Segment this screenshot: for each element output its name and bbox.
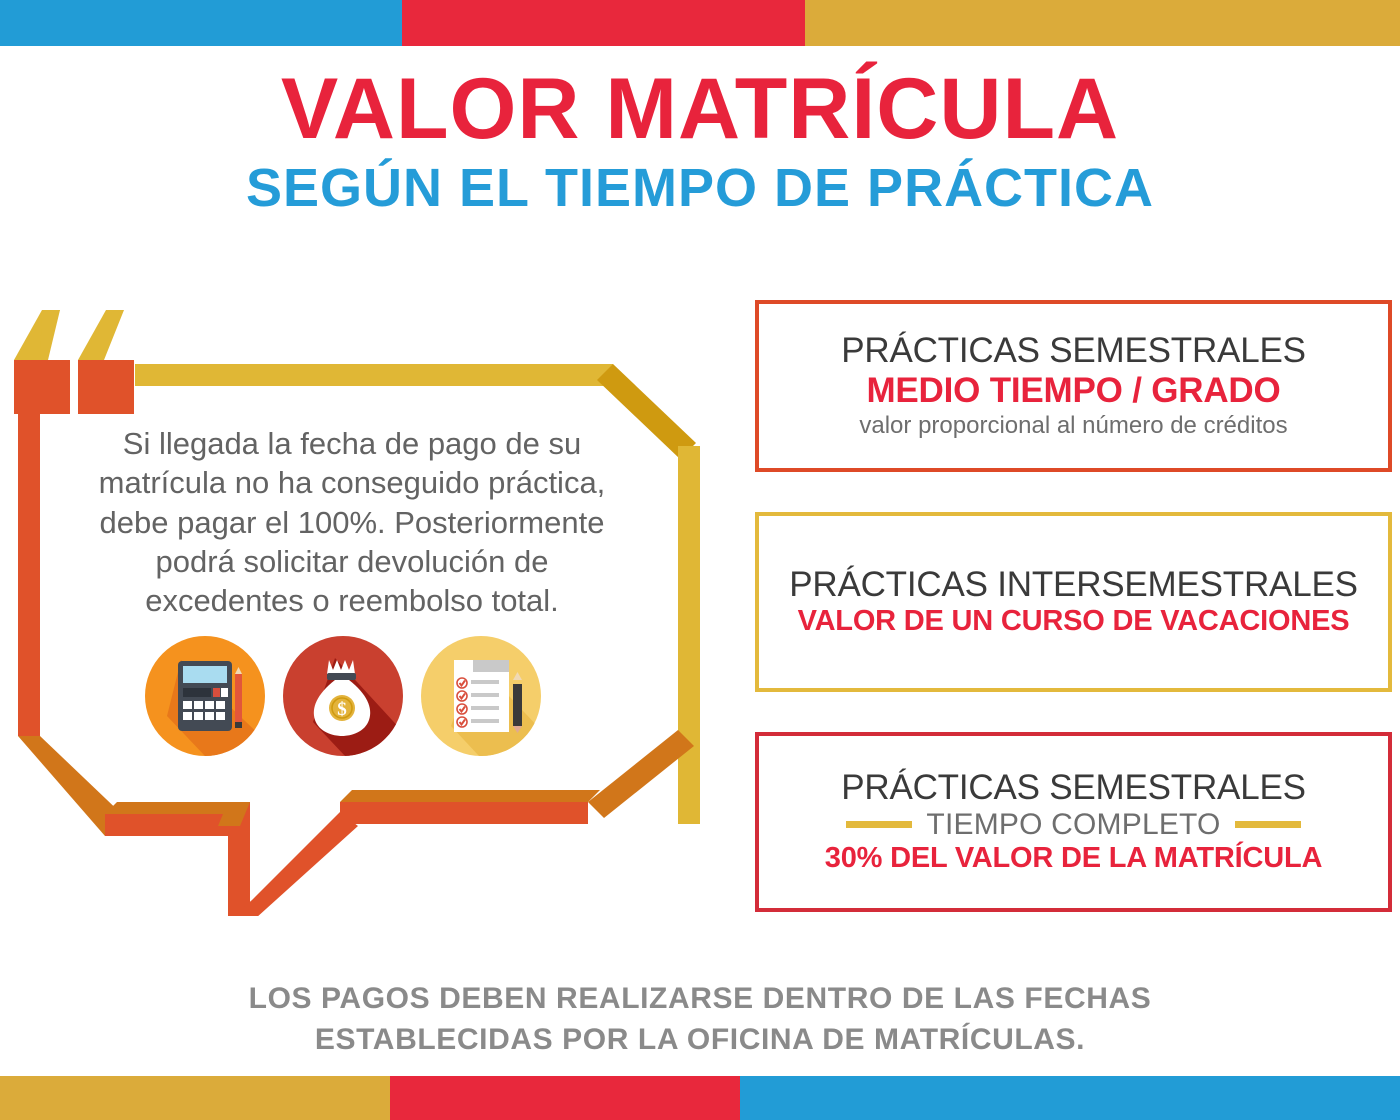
quote-bubble: Si llegada la fecha de pago de su matríc… bbox=[0, 296, 730, 916]
bottom-bar-segment-gold bbox=[0, 1076, 390, 1120]
page-subtitle: SEGÚN EL TIEMPO DE PRÁCTICA bbox=[0, 160, 1400, 217]
panel-1-note: valor proporcional al número de créditos bbox=[773, 411, 1374, 441]
panel-1-highlight: MEDIO TIEMPO / GRADO bbox=[773, 371, 1374, 411]
dash-left-icon bbox=[846, 821, 912, 828]
checklist-icon bbox=[421, 636, 541, 756]
open-quote-mark-icon bbox=[14, 310, 134, 414]
quote-text: Si llegada la fecha de pago de su matríc… bbox=[92, 424, 612, 621]
panel-2-highlight: VALOR DE UN CURSO DE VACACIONES bbox=[773, 604, 1374, 639]
page-title: VALOR MATRÍCULA bbox=[0, 66, 1400, 154]
calculator-icon bbox=[145, 636, 265, 756]
calculator-icon-glyph bbox=[145, 636, 265, 756]
panel-3-highlight: 30% DEL VALOR DE LA MATRÍCULA bbox=[773, 841, 1374, 876]
footer-note: LOS PAGOS DEBEN REALIZARSE DENTRO DE LAS… bbox=[0, 978, 1400, 1061]
panel-3-subtitle-row: TIEMPO COMPLETO bbox=[773, 808, 1374, 841]
bottom-color-bar bbox=[0, 1076, 1400, 1120]
money-bag-icon: $ bbox=[283, 636, 403, 756]
panel-1-title: PRÁCTICAS SEMESTRALES bbox=[773, 331, 1374, 371]
panel-3-title: PRÁCTICAS SEMESTRALES bbox=[773, 768, 1374, 808]
checklist-icon-glyph bbox=[421, 636, 541, 756]
info-panels: PRÁCTICAS SEMESTRALES MEDIO TIEMPO / GRA… bbox=[755, 300, 1392, 912]
top-bar-segment-red bbox=[402, 0, 805, 46]
panel-practicas-semestrales-tiempo-completo[interactable]: PRÁCTICAS SEMESTRALES TIEMPO COMPLETO 30… bbox=[755, 732, 1392, 912]
header: VALOR MATRÍCULA SEGÚN EL TIEMPO DE PRÁCT… bbox=[0, 66, 1400, 216]
money-bag-icon-glyph: $ bbox=[283, 636, 403, 756]
top-bar-segment-blue bbox=[0, 0, 402, 46]
icon-row: $ bbox=[145, 636, 541, 756]
panel-2-title: PRÁCTICAS INTERSEMESTRALES bbox=[773, 565, 1374, 605]
panel-3-subtitle: TIEMPO COMPLETO bbox=[926, 808, 1220, 841]
panel-practicas-semestrales-medio-tiempo[interactable]: PRÁCTICAS SEMESTRALES MEDIO TIEMPO / GRA… bbox=[755, 300, 1392, 472]
panel-practicas-intersemestrales[interactable]: PRÁCTICAS INTERSEMESTRALES VALOR DE UN C… bbox=[755, 512, 1392, 692]
bottom-bar-segment-red bbox=[390, 1076, 740, 1120]
top-bar-segment-gold bbox=[805, 0, 1400, 46]
bottom-bar-segment-blue bbox=[740, 1076, 1400, 1120]
svg-text:$: $ bbox=[337, 699, 347, 720]
top-color-bar bbox=[0, 0, 1400, 46]
footer-line-2: ESTABLECIDAS POR LA OFICINA DE MATRÍCULA… bbox=[0, 1019, 1400, 1060]
footer-line-1: LOS PAGOS DEBEN REALIZARSE DENTRO DE LAS… bbox=[0, 978, 1400, 1019]
dash-right-icon bbox=[1235, 821, 1301, 828]
